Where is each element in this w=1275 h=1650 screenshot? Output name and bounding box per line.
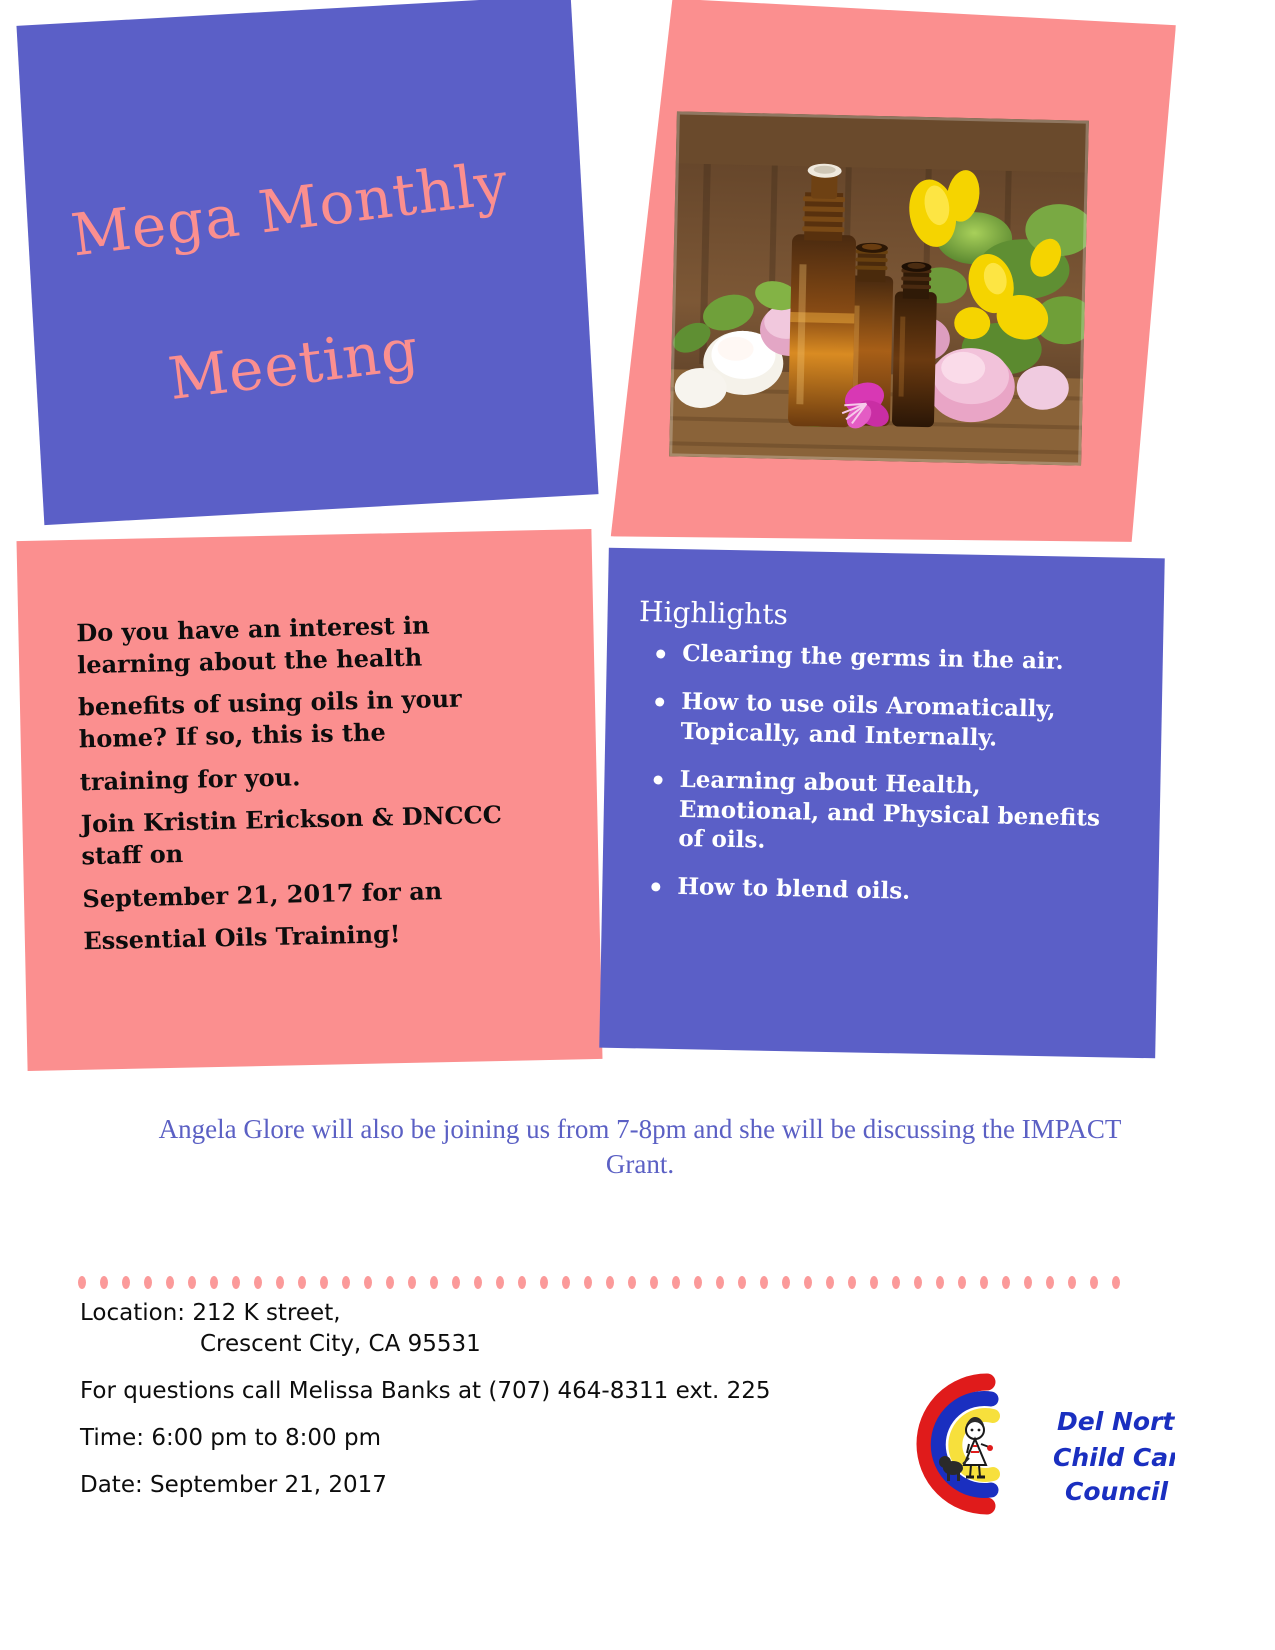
divider-dot <box>1024 1276 1032 1289</box>
highlight-item-label: How to use oils Aromatically, Topically,… <box>680 688 1056 752</box>
divider-dot <box>540 1276 548 1289</box>
divider-dot <box>430 1276 438 1289</box>
intro-line-3: training for you. <box>79 755 550 797</box>
divider-dot <box>584 1276 592 1289</box>
divider-dot <box>232 1276 240 1289</box>
divider-dot <box>562 1276 570 1289</box>
highlight-item: Clearing the germs in the air. <box>652 638 1119 678</box>
highlights-list: Clearing the germs in the air. How to us… <box>633 638 1118 911</box>
divider-dot <box>804 1276 812 1289</box>
divider-dot <box>980 1276 988 1289</box>
divider-dot <box>826 1276 834 1289</box>
divider-dot <box>1046 1276 1054 1289</box>
logo-text-line-2: Child Care <box>1053 1443 1175 1472</box>
divider-dot <box>474 1276 482 1289</box>
location-line-1: Location: 212 K street, <box>80 1302 900 1325</box>
divider-dot <box>320 1276 328 1289</box>
divider-dot <box>870 1276 878 1289</box>
divider-dot <box>386 1276 394 1289</box>
divider-dot <box>738 1276 746 1289</box>
divider-dot <box>672 1276 680 1289</box>
intro-line-2: benefits of using oils in your home? If … <box>78 681 549 755</box>
location-line-2: Crescent City, CA 95531 <box>80 1333 900 1356</box>
guest-speaker-note: Angela Glore will also be joining us fro… <box>140 1112 1140 1181</box>
divider-dot <box>496 1276 504 1289</box>
divider-dot <box>518 1276 526 1289</box>
divider-dot <box>364 1276 372 1289</box>
divider-dot <box>144 1276 152 1289</box>
essential-oils-photo-illustration <box>669 111 1089 465</box>
questions-line: For questions call Melissa Banks at (707… <box>80 1380 900 1403</box>
highlight-item-label: Learning about Health, Emotional, and Ph… <box>678 766 1100 855</box>
divider-dot <box>628 1276 636 1289</box>
divider-dot <box>78 1276 86 1289</box>
divider-dot <box>1090 1276 1098 1289</box>
highlights-section: Highlights Clearing the germs in the air… <box>633 595 1120 929</box>
bullet-icon <box>651 883 660 892</box>
bullet-icon <box>653 775 662 784</box>
divider-dot <box>782 1276 790 1289</box>
highlight-item-label: How to blend oils. <box>677 873 910 905</box>
divider-dot <box>408 1276 416 1289</box>
divider-dot <box>276 1276 284 1289</box>
dnccc-logo-graphic: Del Norte Child Care Council <box>895 1368 1175 1538</box>
highlight-item-label: Clearing the germs in the air. <box>682 640 1064 675</box>
divider-dot <box>122 1276 130 1289</box>
logo-text-line-1: Del Norte <box>1057 1407 1175 1436</box>
divider-dot <box>1112 1276 1120 1289</box>
intro-line-6: Essential Oils Training! <box>83 915 554 957</box>
divider-dot <box>716 1276 724 1289</box>
divider-dot <box>1002 1276 1010 1289</box>
divider-dot <box>958 1276 966 1289</box>
highlight-item: Learning about Health, Emotional, and Ph… <box>648 764 1116 863</box>
time-line: Time: 6:00 pm to 8:00 pm <box>80 1427 900 1450</box>
divider-dot <box>694 1276 702 1289</box>
divider-dot <box>650 1276 658 1289</box>
intro-line-5: September 21, 2017 for an <box>82 872 553 914</box>
divider-dot <box>342 1276 350 1289</box>
divider-dot <box>914 1276 922 1289</box>
highlight-item: How to blend oils. <box>647 872 1114 912</box>
divider-dot <box>298 1276 306 1289</box>
divider-dot <box>100 1276 108 1289</box>
divider-dot <box>606 1276 614 1289</box>
divider-dot <box>848 1276 856 1289</box>
divider-dot <box>166 1276 174 1289</box>
intro-line-1: Do you have an interest in learning abou… <box>76 607 547 681</box>
essential-oils-photo <box>669 111 1089 465</box>
intro-line-4: Join Kristin Erickson & DNCCC staff on <box>80 798 551 872</box>
divider-dot <box>936 1276 944 1289</box>
divider-dot <box>760 1276 768 1289</box>
event-details: Location: 212 K street, Crescent City, C… <box>80 1302 900 1521</box>
divider-dot <box>254 1276 262 1289</box>
bullet-icon <box>655 697 664 706</box>
divider-dot <box>452 1276 460 1289</box>
divider-dot <box>210 1276 218 1289</box>
bullet-icon <box>656 649 665 658</box>
divider-dot <box>188 1276 196 1289</box>
date-line: Date: September 21, 2017 <box>80 1474 900 1497</box>
intro-paragraph: Do you have an interest in learning abou… <box>76 607 554 969</box>
logo-text-line-3: Council <box>1065 1477 1169 1506</box>
divider-dot <box>892 1276 900 1289</box>
dotted-divider <box>78 1275 1120 1289</box>
flyer-page: Mega Monthly Meeting <box>0 0 1275 1650</box>
dnccc-logo: Del Norte Child Care Council <box>895 1368 1175 1538</box>
divider-dot <box>1068 1276 1076 1289</box>
highlight-item: How to use oils Aromatically, Topically,… <box>650 686 1117 756</box>
